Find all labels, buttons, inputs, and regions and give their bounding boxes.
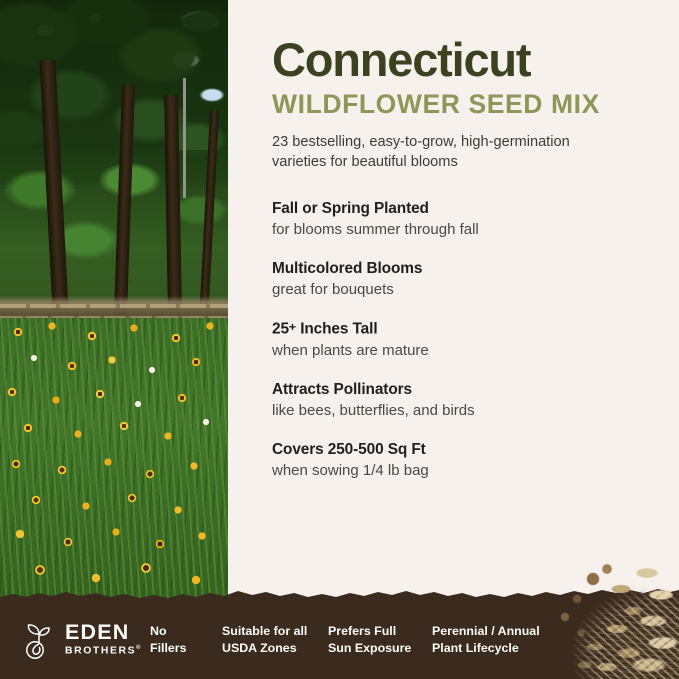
feature-title: Attracts Pollinators <box>272 381 653 399</box>
feature-title: 25+ Inches Tall <box>272 320 653 339</box>
feature-subtitle: for blooms summer through fall <box>272 221 653 238</box>
feature-title: Covers 250-500 Sq Ft <box>272 441 653 459</box>
product-subtitle: WILDFLOWER SEED MIX <box>272 91 653 119</box>
logo-wordmark: EDEN BROTHERS® <box>65 622 142 657</box>
feature-subtitle: when plants are mature <box>272 342 653 359</box>
flower-centers <box>0 318 228 620</box>
eden-brothers-logo[interactable]: EDEN BROTHERS® <box>22 621 150 659</box>
logo-eden-text: EDEN <box>65 622 142 644</box>
claim-sun-exposure: Prefers Full Sun Exposure <box>328 623 432 656</box>
product-info-panel: Connecticut WILDFLOWER SEED MIX 23 bests… <box>228 0 679 679</box>
seedling-sprout-icon <box>22 621 56 659</box>
feature-subtitle: like bees, butterflies, and birds <box>272 402 653 419</box>
logo-brothers-text: BROTHERS® <box>65 645 142 657</box>
feature-item-pollinators: Attracts Pollinators like bees, butterfl… <box>272 381 653 419</box>
wildflower-meadow <box>0 318 228 620</box>
claim-no-fillers: No Fillers <box>150 623 222 656</box>
feature-title: Fall or Spring Planted <box>272 200 653 218</box>
page-title: Connecticut <box>272 36 653 84</box>
registered-mark: ® <box>136 645 142 651</box>
feature-item-coverage: Covers 250-500 Sq Ft when sowing 1/4 lb … <box>272 441 653 479</box>
hero-photo <box>0 0 228 620</box>
product-description: 23 bestselling, easy-to-grow, high-germi… <box>272 132 624 173</box>
feature-list: Fall or Spring Planted for blooms summer… <box>272 200 653 479</box>
footer-claims: No Fillers Suitable for all USDA Zones P… <box>150 623 572 656</box>
brand-footer-bar: EDEN BROTHERS® No Fillers Suitable for a… <box>0 600 679 679</box>
footer-content: EDEN BROTHERS® No Fillers Suitable for a… <box>0 600 679 679</box>
feature-item-height: 25+ Inches Tall when plants are mature <box>272 320 653 359</box>
light-pole <box>183 78 186 198</box>
feature-item-planting-season: Fall or Spring Planted for blooms summer… <box>272 200 653 238</box>
feature-subtitle: great for bouquets <box>272 281 653 298</box>
feature-item-bloom-color: Multicolored Blooms great for bouquets <box>272 260 653 298</box>
feature-subtitle: when sowing 1/4 lb bag <box>272 462 653 479</box>
feature-title: Multicolored Blooms <box>272 260 653 278</box>
claim-usda-zones: Suitable for all USDA Zones <box>222 623 328 656</box>
claim-plant-lifecycle: Perennial / Annual Plant Lifecycle <box>432 623 572 656</box>
